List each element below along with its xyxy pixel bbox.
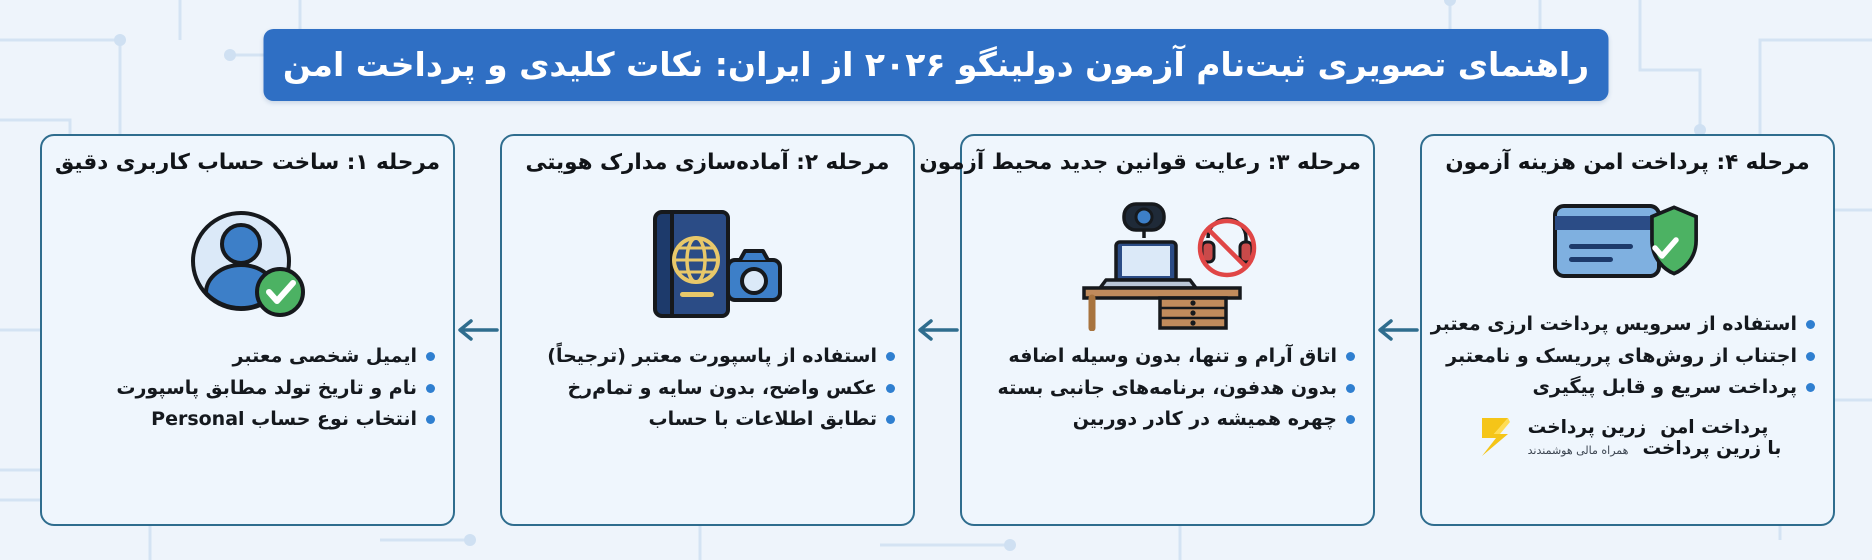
list-item: بدون هدفون، برنامه‌های جانبی بسته (980, 376, 1355, 401)
step-card-3: مرحله ۳: رعایت قوانین جدید محیط آزمون (960, 134, 1375, 526)
bullet-dot-icon (1346, 415, 1355, 424)
bullet-dot-icon (886, 352, 895, 361)
bullet-dot-icon (1346, 384, 1355, 393)
step-card-2-bullets: استفاده از پاسپورت معتبر (ترجیحاً) عکس و… (514, 344, 901, 432)
bullet-dot-icon (886, 384, 895, 393)
zarinpal-logo (1474, 412, 1518, 464)
step-card-2-title: مرحله ۲: آماده‌سازی مدارک هویتی (514, 150, 901, 182)
step-card-4: مرحله ۴: پرداخت امن هزینه آزمون استفاده … (1420, 134, 1835, 526)
zarinpal-brand-row: پرداخت امن زرین پرداخت (1528, 417, 1769, 438)
step-card-1-title: مرحله ۱: ساخت حساب کاربری دقیق (54, 150, 441, 182)
bullet-dot-icon (1806, 352, 1815, 361)
list-item: نام و تاریخ تولد مطابق پاسپورت (60, 376, 435, 401)
list-item: اتاق آرام و تنها، بدون وسیله اضافه (980, 344, 1355, 369)
bullet-dot-icon (426, 415, 435, 424)
arrow-3-4 (1375, 134, 1420, 526)
step-card-3-title: مرحله ۳: رعایت قوانین جدید محیط آزمون (974, 150, 1361, 182)
step-card-1: مرحله ۱: ساخت حساب کاربری دقیق ایمیل شخص… (40, 134, 455, 526)
step-card-1-bullets: ایمیل شخصی معتبر نام و تاریخ تولد مطابق … (54, 344, 441, 432)
list-item: استفاده از پاسپورت معتبر (ترجیحاً) (520, 344, 895, 369)
list-item: استفاده از سرویس پرداخت ارزی معتبر (1440, 312, 1815, 337)
arrow-2-3 (915, 134, 960, 526)
bullet-dot-icon (1806, 383, 1815, 392)
list-item: چهره همیشه در کادر دوربین (980, 407, 1355, 432)
list-item: عکس واضح، بدون سایه و تمام‌رخ (520, 376, 895, 401)
bullet-dot-icon (886, 415, 895, 424)
zarinpal-tagline-row: با زرین پرداخت همراه مالی هوشمندند (1528, 438, 1782, 459)
bullet-dot-icon (1806, 320, 1815, 329)
list-item: انتخاب نوع حساب Personal (60, 407, 435, 432)
bullet-dot-icon (1346, 352, 1355, 361)
list-item: تطابق اطلاعات با حساب (520, 407, 895, 432)
step-card-2: مرحله ۲: آماده‌سازی مدارک هویتی (500, 134, 915, 526)
zarinpal-footer: پرداخت امن زرین پرداخت با زرین پرداخت هم… (1434, 412, 1821, 464)
zarinpal-text-block: پرداخت امن زرین پرداخت با زرین پرداخت هم… (1528, 417, 1782, 460)
list-item: اجتناب از روش‌های پرریسک و نامعتبر (1440, 344, 1815, 369)
bullet-dot-icon (426, 352, 435, 361)
list-item: پرداخت سریع و قابل پیگیری (1440, 375, 1815, 400)
zarinpal-tagline-right: همراه مالی هوشمندند (1528, 445, 1629, 458)
step-card-4-bullets: استفاده از سرویس پرداخت ارزی معتبر اجتنا… (1434, 312, 1821, 400)
page-title: راهنمای تصویری ثبت‌نام آزمون دولینگو ۲۰۲… (283, 45, 1589, 85)
bullet-dot-icon (426, 384, 435, 393)
passport-camera-icon (514, 188, 901, 338)
list-item: ایمیل شخصی معتبر (60, 344, 435, 369)
desk-laptop-webcam-no-headphones-icon (974, 188, 1361, 338)
credit-card-shield-icon (1434, 188, 1821, 306)
zarinpal-tagline-left: با زرین پرداخت (1642, 438, 1781, 459)
step-card-4-title: مرحله ۴: پرداخت امن هزینه آزمون (1434, 150, 1821, 182)
user-profile-verified-icon (54, 188, 441, 338)
steps-row: مرحله ۱: ساخت حساب کاربری دقیق ایمیل شخص… (40, 134, 1835, 526)
arrow-1-2 (455, 134, 500, 526)
infographic-title-banner: راهنمای تصویری ثبت‌نام آزمون دولینگو ۲۰۲… (264, 29, 1609, 101)
zarinpal-brand-left: پرداخت امن (1660, 417, 1768, 438)
step-card-3-bullets: اتاق آرام و تنها، بدون وسیله اضافه بدون … (974, 344, 1361, 432)
zarinpal-brand-right: زرین پرداخت (1528, 417, 1647, 438)
